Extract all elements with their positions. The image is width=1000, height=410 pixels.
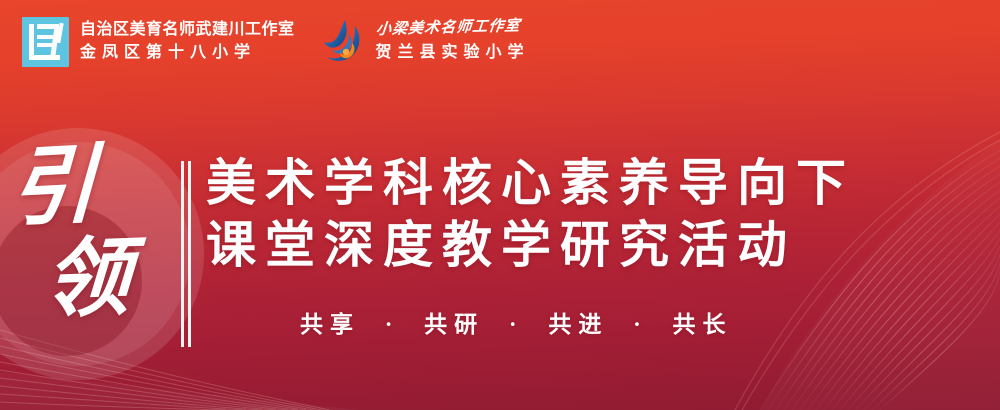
swirl-flame-svg [321,18,365,66]
main-title: 美术学科核心素养导向下 课堂深度教学研究活动 [206,152,946,276]
title-divider-rules [181,161,193,347]
seal-graphic: 引 领 [0,128,204,380]
title-line-1: 美术学科核心素养导向下 [206,152,946,214]
subtitle-item-4: 共长 [673,312,733,337]
organization-2-line2: 贺兰县实验小学 [376,42,530,64]
seal-character-top: 引 [8,142,97,232]
organization-2-line1: 小梁美术名师工作室 [375,17,531,40]
subtitle-separator-2: · [497,312,536,337]
subtitle-item-3: 共进 [548,312,608,337]
subtitle-separator-3: · [621,312,660,337]
wu-seal-square-icon [22,17,69,67]
organization-2-text: 小梁美术名师工作室 贺兰县实验小学 [376,21,530,63]
subtitle-item-2: 共研 [424,312,484,337]
organization-1-line2: 金凤区第十八小学 [80,42,295,64]
organization-2: 小梁美术名师工作室 贺兰县实验小学 [321,18,530,66]
title-line-2: 课堂深度教学研究活动 [206,214,946,276]
subtitle-separator-1: · [373,312,412,337]
subtitle-slogan: 共享 · 共研 · 共进 · 共长 [300,305,733,339]
divider-rule-2 [188,161,191,347]
header-organizations: 自治区美育名师武建川工作室 金凤区第十八小学 [0,0,1000,84]
subtitle-item-1: 共享 [300,312,360,337]
swirl-flame-icon [321,18,365,66]
organization-1-text: 自治区美育名师武建川工作室 金凤区第十八小学 [80,20,295,64]
divider-rule-1 [181,161,184,347]
seal-character-bottom: 领 [42,235,133,324]
event-banner: 引 领 自治区美育名师武建川工作室 金凤区第十八小学 [0,0,1000,410]
organization-1: 自治区美育名师武建川工作室 金凤区第十八小学 [22,17,295,67]
organization-1-line1: 自治区美育名师武建川工作室 [80,20,295,40]
